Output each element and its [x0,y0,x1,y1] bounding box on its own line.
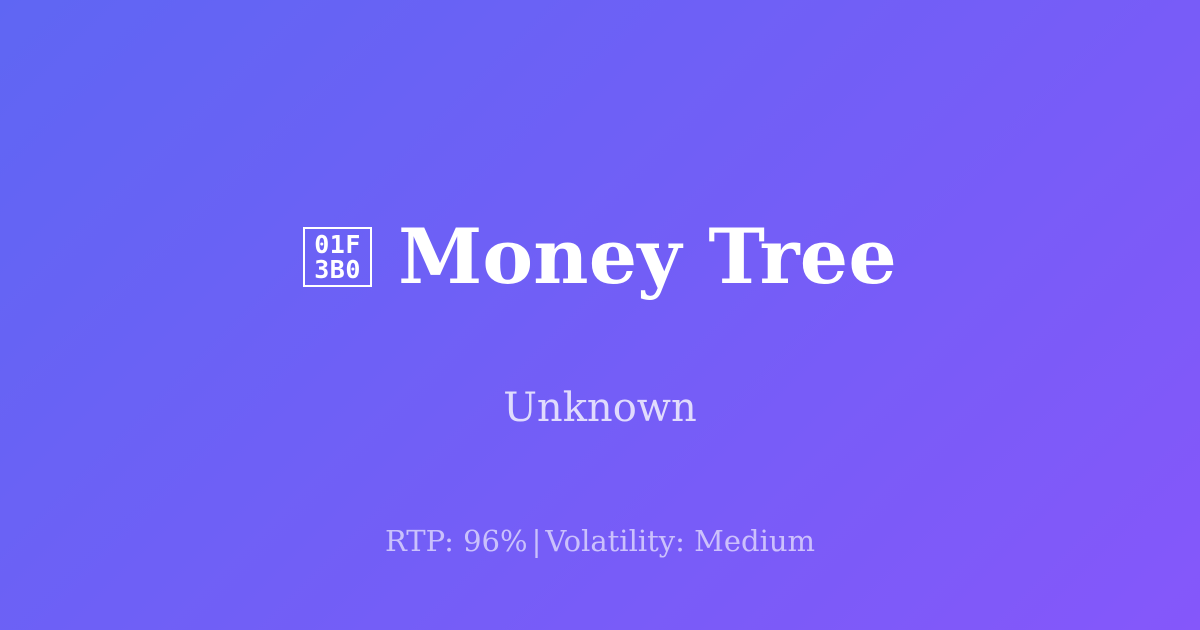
rtp-value: RTP: 96% [385,524,528,558]
game-og-card: 01F 3B0 Money Tree Unknown RTP: 96%|Vola… [0,0,1200,630]
tofu-codepoint-top: 01F [314,233,361,258]
meta-separator: | [528,524,546,558]
volatility-value: Volatility: Medium [545,524,815,558]
game-meta-line: RTP: 96%|Volatility: Medium [0,527,1200,556]
slot-machine-icon: 01F 3B0 [303,227,372,287]
provider-label: Unknown [503,388,697,428]
title-row: 01F 3B0 Money Tree [303,168,897,346]
tofu-codepoint-bottom: 3B0 [314,258,361,283]
page-title: Money Tree [398,219,897,295]
